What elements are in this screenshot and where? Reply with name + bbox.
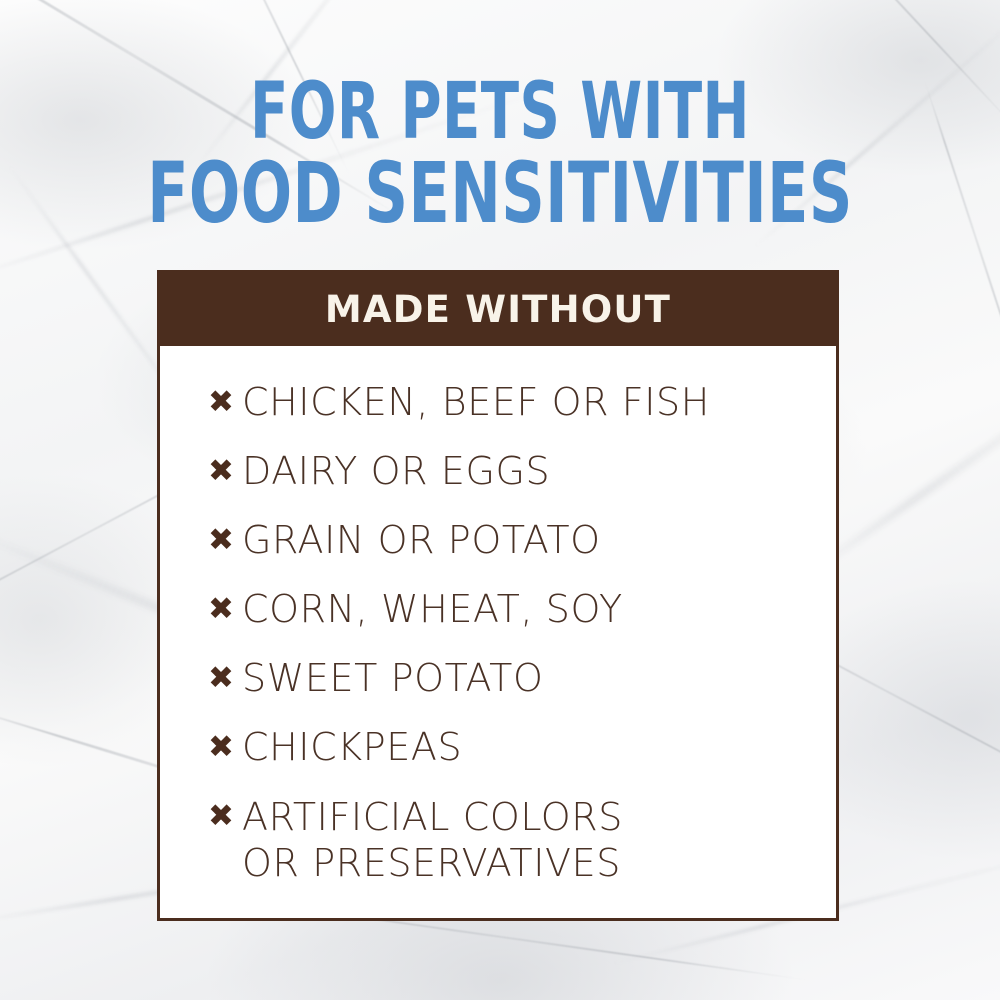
list-item: ✖ SWEET POTATO <box>160 656 836 700</box>
made-without-card: MADE WITHOUT ✖ CHICKEN, BEEF OR FISH ✖ D… <box>157 270 839 921</box>
card-header: MADE WITHOUT <box>160 273 836 346</box>
heavy-multiplication-x-icon: ✖ <box>208 725 242 769</box>
list-item: ✖ CORN, WHEAT, SOY <box>160 587 836 631</box>
list-item-label: CORN, WHEAT, SOY <box>242 587 623 631</box>
heavy-multiplication-x-icon: ✖ <box>208 518 242 562</box>
poster-heading: FOR PETS WITH FOOD SENSITIVITIES <box>0 74 1000 235</box>
list-item: ✖ GRAIN OR POTATO <box>160 518 836 562</box>
list-item-label: DAIRY OR EGGS <box>242 449 550 493</box>
list-item: ✖ ARTIFICIAL COLORS OR PRESERVATIVES <box>160 794 836 886</box>
made-without-list: ✖ CHICKEN, BEEF OR FISH ✖ DAIRY OR EGGS … <box>160 380 836 886</box>
list-item: ✖ CHICKPEAS <box>160 725 836 769</box>
poster-canvas: FOR PETS WITH FOOD SENSITIVITIES MADE WI… <box>0 0 1000 1000</box>
list-item-label: CHICKPEAS <box>242 725 462 769</box>
list-item: ✖ CHICKEN, BEEF OR FISH <box>160 380 836 424</box>
heavy-multiplication-x-icon: ✖ <box>208 587 242 631</box>
heavy-multiplication-x-icon: ✖ <box>208 449 242 493</box>
card-header-title: MADE WITHOUT <box>325 288 671 331</box>
list-item-label: CHICKEN, BEEF OR FISH <box>242 380 710 424</box>
heading-line-2: FOOD SENSITIVITIES <box>100 152 900 234</box>
card-body: ✖ CHICKEN, BEEF OR FISH ✖ DAIRY OR EGGS … <box>160 346 836 886</box>
heavy-multiplication-x-icon: ✖ <box>208 794 242 838</box>
list-item-label: GRAIN OR POTATO <box>242 518 601 562</box>
heavy-multiplication-x-icon: ✖ <box>208 380 242 424</box>
heading-line-1: FOR PETS WITH <box>100 74 900 150</box>
heavy-multiplication-x-icon: ✖ <box>208 656 242 700</box>
list-item: ✖ DAIRY OR EGGS <box>160 449 836 493</box>
list-item-label: ARTIFICIAL COLORS OR PRESERVATIVES <box>242 794 623 886</box>
list-item-label: SWEET POTATO <box>242 656 543 700</box>
